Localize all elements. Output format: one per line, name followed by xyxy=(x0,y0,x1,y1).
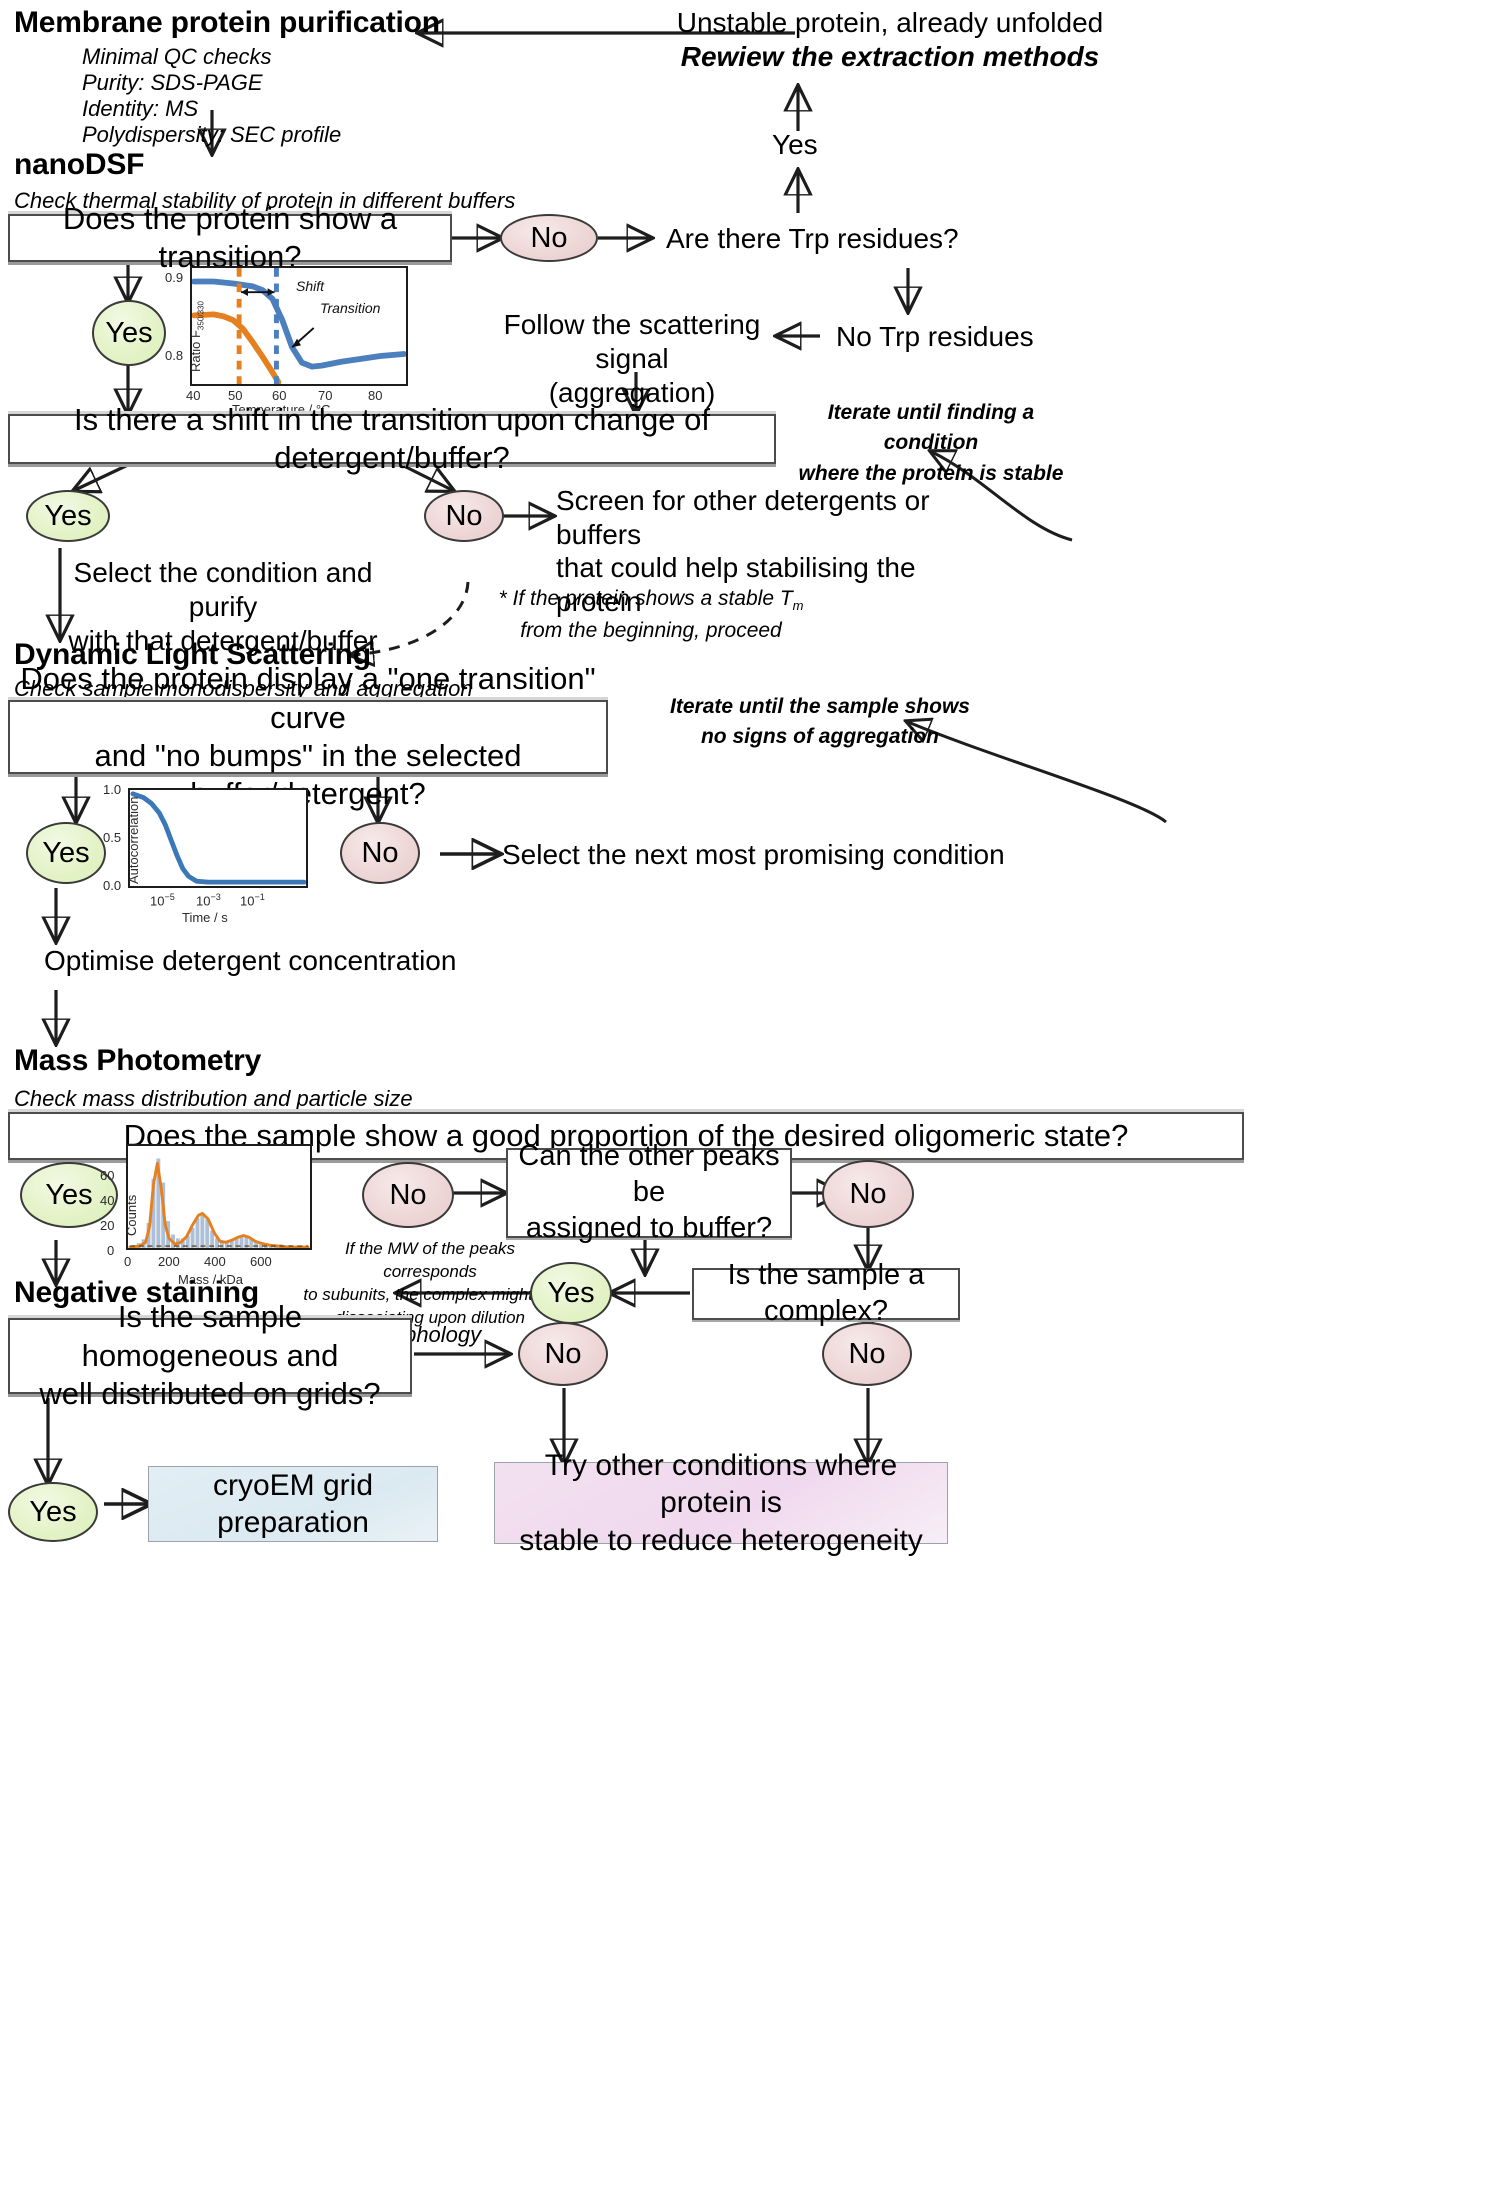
decision-yes-dls-label: Yes xyxy=(42,837,89,870)
dls-xtick-1e-3: 10−3 xyxy=(196,892,221,908)
mp-xtick-400: 400 xyxy=(204,1254,226,1269)
endpoint-try-other-conditions[interactable]: Try other conditions where protein is st… xyxy=(494,1462,948,1544)
decision-no-other-peaks[interactable]: No xyxy=(822,1160,914,1228)
nanodsf-annot-shift: Shift xyxy=(296,278,324,294)
mp-xtick-600: 600 xyxy=(250,1254,272,1269)
unstable-protein-note: Unstable protein, already unfolded Rewie… xyxy=(600,6,1180,74)
screen-line-1: Screen for other detergents or buffers xyxy=(556,484,976,551)
question-dls-transition[interactable]: Does the protein display a "one transiti… xyxy=(8,700,608,774)
question-sample-complex-label: Is the sample a complex? xyxy=(704,1258,948,1330)
stable-tm-line-1: * If the protein shows a stable Tm xyxy=(486,584,816,616)
mp-ytick-0: 0 xyxy=(107,1243,114,1258)
note-stable-tm: * If the protein shows a stable Tm from … xyxy=(486,584,816,646)
decision-no-dls-label: No xyxy=(361,837,398,870)
unstable-line-1: Unstable protein, already unfolded xyxy=(600,6,1180,40)
label-yes-trp: Yes xyxy=(772,128,818,162)
note-iterate-aggregation: Iterate until the sample shows no signs … xyxy=(660,692,980,753)
nanodsf-series-blue xyxy=(194,282,404,367)
iterate-aggregation-line-1: Iterate until the sample shows xyxy=(660,692,980,722)
action-optimise-detergent: Optimise detergent concentration xyxy=(44,944,456,978)
mp-xtick-0: 0 xyxy=(124,1254,131,1269)
dls-ytick-0.0: 0.0 xyxy=(103,878,121,893)
mw-peaks-line-1: If the MW of the peaks corresponds xyxy=(300,1238,560,1284)
decision-no-complex[interactable]: No xyxy=(822,1322,912,1386)
qc-line-2: Identity: MS xyxy=(82,96,341,122)
follow-scattering-line-1: Follow the scattering signal xyxy=(486,308,778,376)
mp-ylabel: Counts xyxy=(124,1195,139,1236)
dls-xtick-1e-1: 10−1 xyxy=(240,892,265,908)
try-other-line-1: Try other conditions where protein is xyxy=(507,1447,935,1522)
nanodsf-ylabel: Ratio F350/330 xyxy=(188,301,206,372)
question-dls-line-1: Does the protein display a "one transiti… xyxy=(20,660,596,737)
mp-ytick-40: 40 xyxy=(100,1193,114,1208)
nanodsf-ytick-0.9: 0.9 xyxy=(165,270,183,285)
dls-ytick-0.5: 0.5 xyxy=(103,830,121,845)
decision-yes-other-peaks-label: Yes xyxy=(547,1277,594,1310)
decision-no-other-peaks-label: No xyxy=(849,1178,886,1211)
qc-line-0: Minimal QC checks xyxy=(82,44,341,70)
dls-series-autocorrelation xyxy=(133,794,304,882)
nanodsf-ytick-0.8: 0.8 xyxy=(165,348,183,363)
iterate-stable-line-1: Iterate until finding a condition xyxy=(786,398,1076,459)
dls-ylabel: Autocorrelation xyxy=(126,797,141,884)
question-other-peaks-line-2: assigned to buffer? xyxy=(526,1211,772,1247)
decision-yes-transition-label: Yes xyxy=(105,317,152,350)
question-dls-line-2: and "no bumps" in the selected buffer/de… xyxy=(20,737,596,814)
action-next-condition: Select the next most promising condition xyxy=(502,838,1005,872)
decision-yes-oligomeric-label: Yes xyxy=(45,1179,92,1212)
purification-qc-list: Minimal QC checks Purity: SDS-PAGE Ident… xyxy=(82,44,341,148)
action-follow-scattering: Follow the scattering signal (aggregatio… xyxy=(486,308,778,410)
mp-ytick-60: 60 xyxy=(100,1168,114,1183)
question-shift-transition-label: Is there a shift in the transition upon … xyxy=(20,401,764,478)
decision-no-oligomeric[interactable]: No xyxy=(362,1162,454,1228)
unstable-line-2: Rewiew the extraction methods xyxy=(600,40,1180,74)
dls-xlabel: Time / s xyxy=(182,910,228,925)
question-trp-residues: Are there Trp residues? xyxy=(666,222,959,256)
decision-no-complex-label: No xyxy=(848,1338,885,1371)
nanodsf-annot-transition: Transition xyxy=(320,300,380,316)
qc-line-1: Purity: SDS-PAGE xyxy=(82,70,341,96)
endpoint-cryoem[interactable]: cryoEM grid preparation xyxy=(148,1466,438,1542)
note-iterate-stable: Iterate until finding a condition where … xyxy=(786,398,1076,489)
question-sample-homogeneous[interactable]: Is the sample homogeneous and well distr… xyxy=(8,1318,412,1394)
nanodsf-ylabel-main: Ratio F xyxy=(188,330,203,372)
decision-yes-shift[interactable]: Yes xyxy=(26,490,110,542)
stable-tm-text: * If the protein shows a stable T xyxy=(499,587,793,610)
decision-no-shift-label: No xyxy=(445,500,482,533)
nanodsf-ylabel-sub: 350/330 xyxy=(197,301,206,330)
question-shift-transition[interactable]: Is there a shift in the transition upon … xyxy=(8,414,776,464)
question-sample-complex[interactable]: Is the sample a complex? xyxy=(692,1268,960,1320)
nanodsf-series-orange xyxy=(194,314,278,382)
stable-tm-line-2: from the beginning, proceed xyxy=(486,616,816,646)
label-no-trp-residues: No Trp residues xyxy=(836,320,1034,354)
question-other-peaks-line-1: Can the other peaks be xyxy=(518,1139,780,1211)
endpoint-cryoem-label: cryoEM grid preparation xyxy=(161,1467,425,1542)
question-protein-transition-label: Does the protein show a transition? xyxy=(20,200,440,277)
decision-yes-homogeneous-label: Yes xyxy=(29,1496,76,1529)
decision-no-dls[interactable]: No xyxy=(340,822,420,884)
decision-yes-dls[interactable]: Yes xyxy=(26,822,106,884)
question-other-peaks[interactable]: Can the other peaks be assigned to buffe… xyxy=(506,1148,792,1238)
dls-chart-svg xyxy=(130,790,306,886)
dls-ytick-1.0: 1.0 xyxy=(103,782,121,797)
decision-no-oligomeric-label: No xyxy=(389,1179,426,1212)
qc-line-3: Polydispersity: SEC profile xyxy=(82,122,341,148)
decision-yes-shift-label: Yes xyxy=(44,500,91,533)
mass-photometry-chart-svg xyxy=(128,1146,310,1248)
decision-yes-other-peaks[interactable]: Yes xyxy=(530,1262,612,1324)
decision-yes-transition[interactable]: Yes xyxy=(92,300,166,366)
section-title-nanodsf: nanoDSF xyxy=(14,148,144,182)
decision-no-transition[interactable]: No xyxy=(500,214,598,262)
iterate-aggregation-line-2: no signs of aggregation xyxy=(660,722,980,752)
select-condition-line-1: Select the condition and purify xyxy=(58,556,388,624)
dls-chart xyxy=(128,788,308,888)
decision-no-transition-label: No xyxy=(530,222,567,255)
decision-no-shift[interactable]: No xyxy=(424,490,504,542)
section-subtitle-mass-photometry: Check mass distribution and particle siz… xyxy=(14,1086,413,1112)
section-title-purification: Membrane protein purification xyxy=(14,6,440,40)
flowchart-canvas: Membrane protein purification Minimal QC… xyxy=(0,0,1499,2197)
nanodsf-transition-arrow xyxy=(292,328,314,347)
decision-yes-homogeneous[interactable]: Yes xyxy=(8,1482,98,1542)
try-other-line-2: stable to reduce heterogeneity xyxy=(519,1522,923,1560)
decision-no-homogeneous[interactable]: No xyxy=(518,1322,608,1386)
question-homogeneous-line-1: Is the sample homogeneous and xyxy=(20,1298,400,1375)
section-title-mass-photometry: Mass Photometry xyxy=(14,1044,261,1078)
mp-ytick-20: 20 xyxy=(100,1218,114,1233)
decision-no-homogeneous-label: No xyxy=(544,1338,581,1371)
mp-xtick-200: 200 xyxy=(158,1254,180,1269)
question-protein-transition[interactable]: Does the protein show a transition? xyxy=(8,214,452,262)
question-homogeneous-line-2: well distributed on grids? xyxy=(39,1375,380,1413)
stable-tm-sub: m xyxy=(793,598,804,613)
mass-photometry-chart xyxy=(126,1144,312,1250)
dls-xtick-1e-5: 10−5 xyxy=(150,892,175,908)
